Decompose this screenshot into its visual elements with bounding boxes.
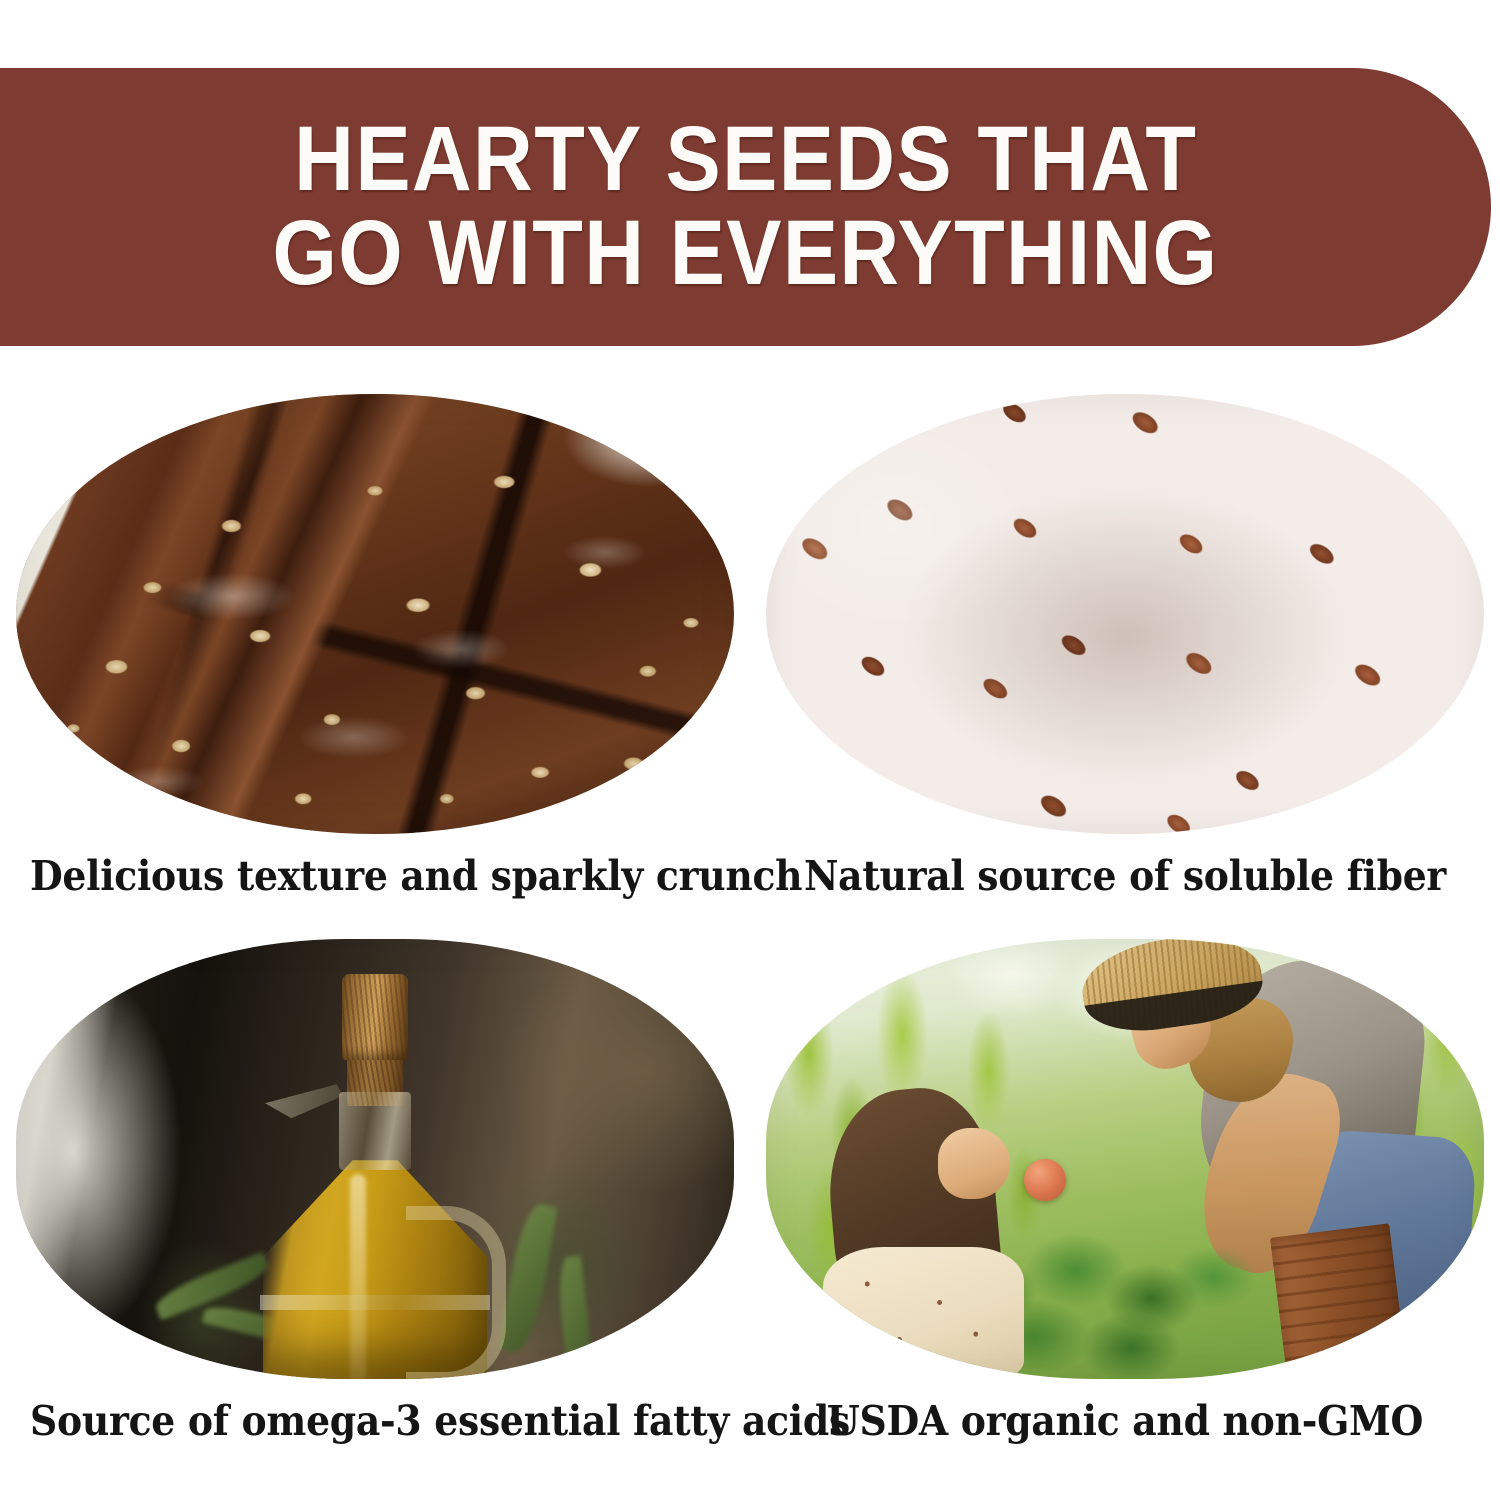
oil-cruet-bottle (250, 974, 500, 1379)
features-grid: Delicious texture and sparkly crunch Nat… (0, 372, 1500, 1500)
olive-oil-photo-image (16, 939, 734, 1379)
feature-caption-flax-seeds: Natural source of soluble fiber (780, 852, 1470, 900)
cork-stopper (342, 974, 408, 1060)
feature-cell-flax-seeds: Natural source of soluble fiber (750, 372, 1500, 917)
flax-seeds-photo-image (766, 394, 1484, 834)
garden-harvest-photo (766, 939, 1484, 1379)
brownies-photo-image (16, 394, 734, 834)
feature-caption-garden: USDA organic and non-GMO (780, 1397, 1470, 1445)
bottle-handle (406, 1206, 506, 1379)
girl-dress (823, 1247, 1024, 1379)
bottle-neck (339, 1092, 411, 1170)
flax-seeds-photo (766, 394, 1484, 834)
girl-face (938, 1128, 1010, 1198)
bottle-spout (265, 1084, 343, 1118)
seed-depth-shading (766, 394, 1484, 834)
header-title-line-1: HEARTY SEEDS THAT (294, 113, 1197, 207)
garden-harvest-photo-image (766, 939, 1484, 1379)
brownie-crackle-sheen (16, 394, 734, 834)
olive-oil-photo (16, 939, 734, 1379)
feature-cell-brownies: Delicious texture and sparkly crunch (0, 372, 750, 917)
header-title-line-2: GO WITH EVERYTHING (273, 207, 1219, 301)
wooden-crate (1270, 1223, 1406, 1377)
feature-cell-garden: USDA organic and non-GMO (750, 917, 1500, 1462)
feature-caption-brownies: Delicious texture and sparkly crunch (30, 852, 720, 900)
header-banner: HEARTY SEEDS THAT GO WITH EVERYTHING (0, 68, 1491, 346)
feature-caption-olive-oil: Source of omega-3 essential fatty acids (30, 1397, 720, 1445)
brownies-photo (16, 394, 734, 834)
feature-cell-olive-oil: Source of omega-3 essential fatty acids (0, 917, 750, 1462)
bottle-highlight (350, 1174, 366, 1379)
